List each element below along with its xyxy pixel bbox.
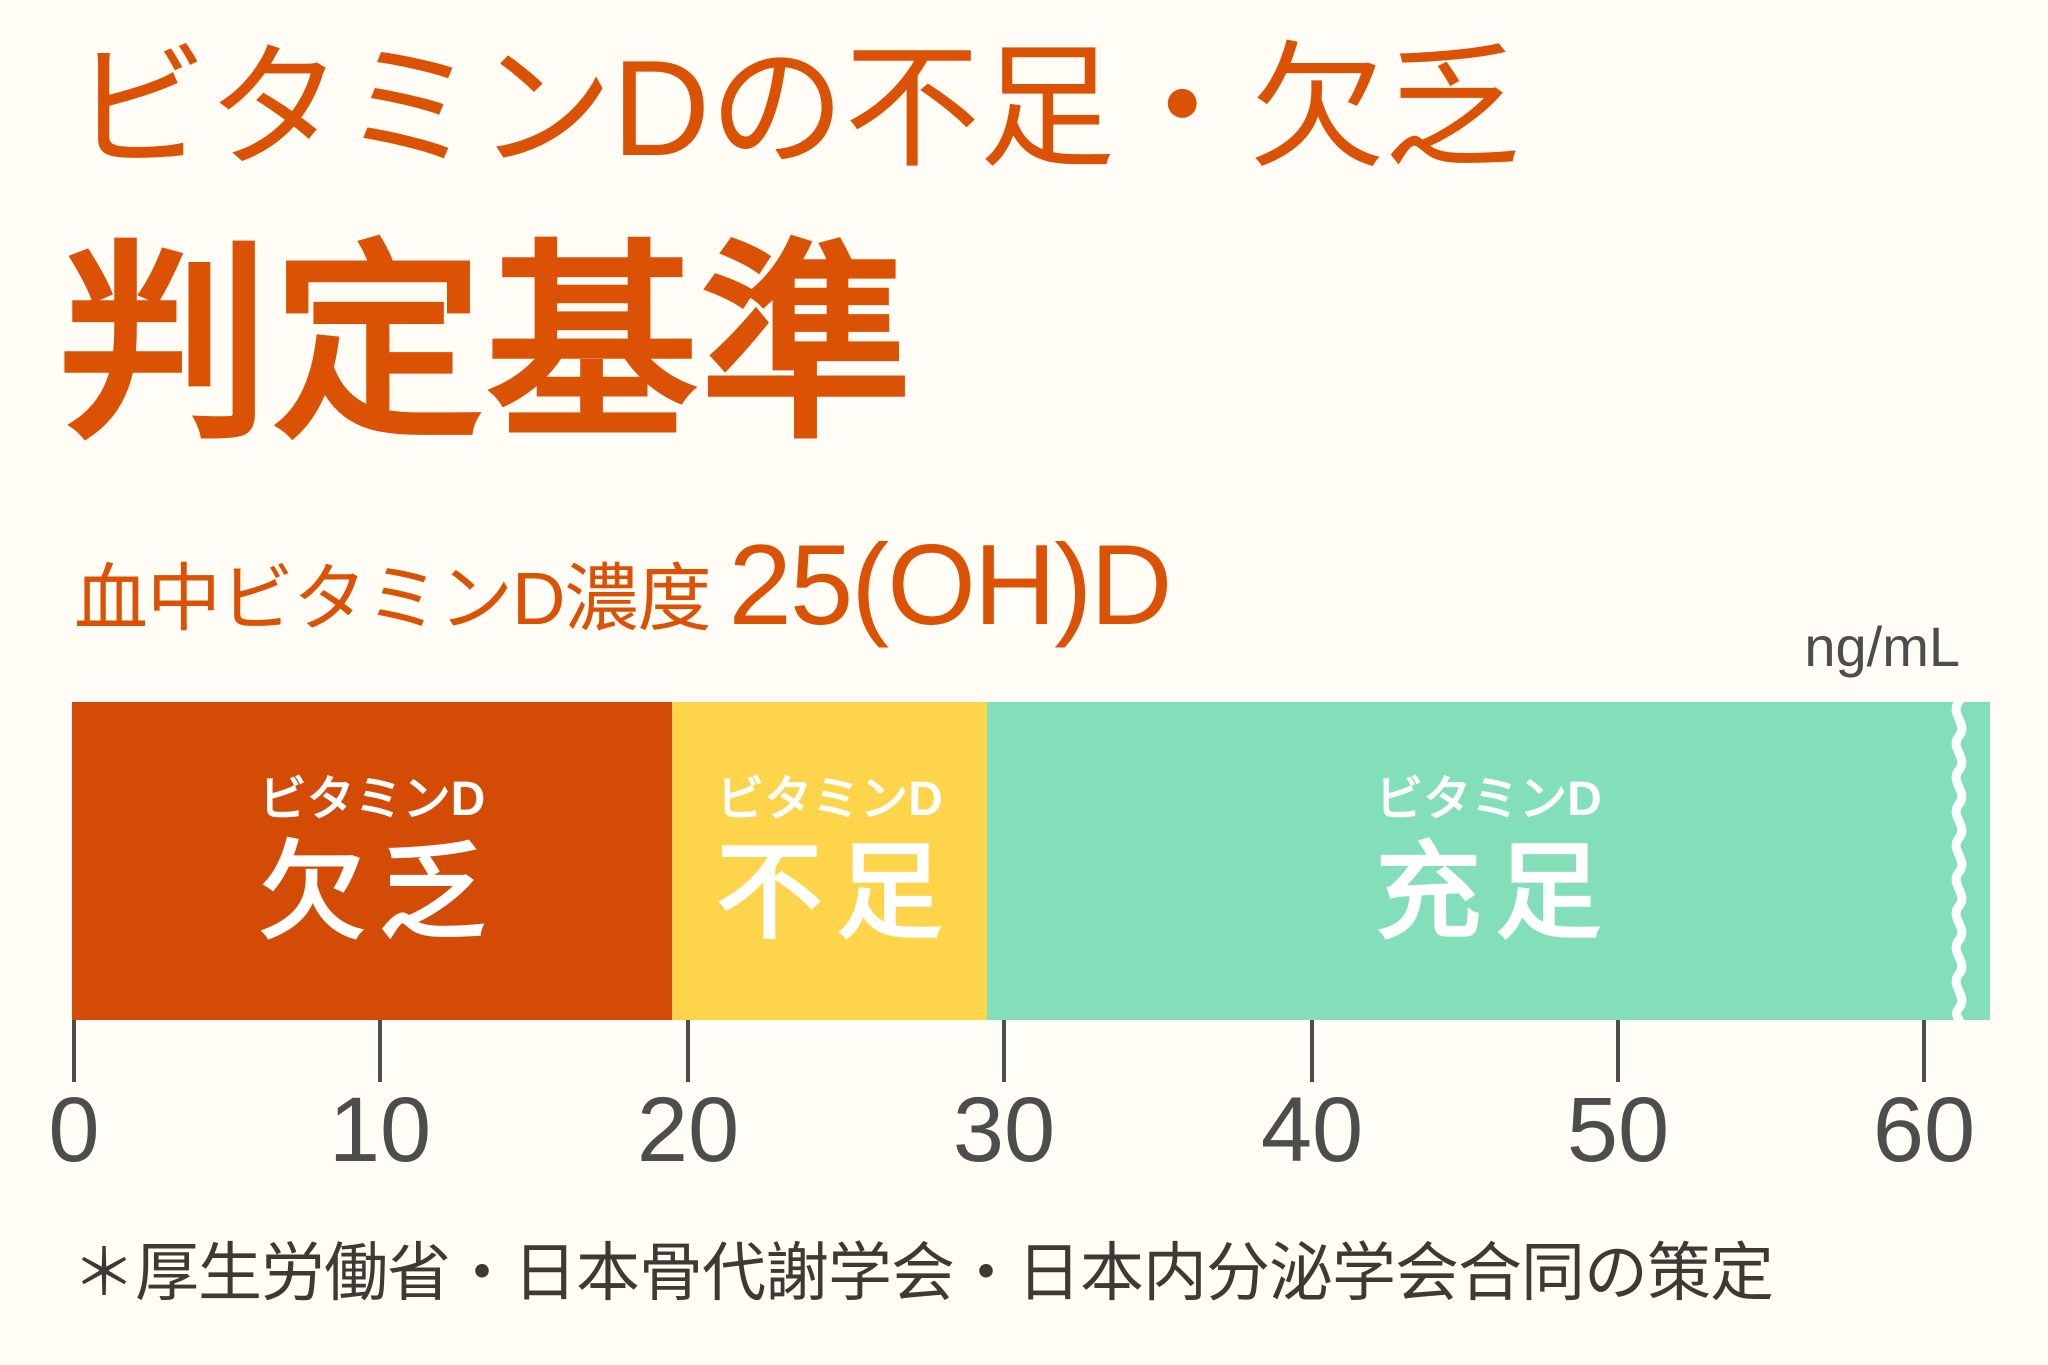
page-title-line-1: ビタミンDの不足・欠乏 <box>72 28 1519 188</box>
axis-tick-label-20: 20 <box>637 1078 739 1183</box>
axis-tick-40 <box>1310 1020 1314 1082</box>
bar-segment-sufficient-label: 充足 <box>1361 840 1615 946</box>
subtitle-marker: 25(OH)D <box>728 520 1170 651</box>
infographic-root: ビタミンDの不足・欠乏 判定基準 血中ビタミンD濃度 25(OH)D ng/mL… <box>0 0 2048 1365</box>
axis-tick-10 <box>378 1020 382 1082</box>
axis-tick-20 <box>686 1020 690 1082</box>
bar-segment-deficient: ビタミンD 欠乏 <box>72 702 672 1020</box>
page-title-line-2: 判定基準 <box>58 224 914 466</box>
axis-tick-label-60: 60 <box>1873 1078 1975 1183</box>
axis-tick-label-10: 10 <box>329 1078 431 1183</box>
bar-segment-sufficient-caption: ビタミンD <box>1375 776 1602 824</box>
subtitle-label: 血中ビタミンD濃度 <box>74 539 710 646</box>
range-bar: ビタミンD 欠乏 ビタミンD 不足 ビタミンD 充足 <box>72 702 1990 1020</box>
x-axis: 0 10 20 30 40 50 60 <box>0 1020 2048 1180</box>
bar-segment-deficient-label: 欠乏 <box>245 840 499 946</box>
bar-segment-insufficient-caption: ビタミンD <box>716 776 943 824</box>
axis-tick-60 <box>1922 1020 1926 1082</box>
axis-tick-30 <box>1002 1020 1006 1082</box>
axis-tick-50 <box>1616 1020 1620 1082</box>
axis-tick-label-30: 30 <box>953 1078 1055 1183</box>
bar-segment-insufficient: ビタミンD 不足 <box>672 702 987 1020</box>
axis-tick-label-0: 0 <box>48 1078 99 1183</box>
axis-unit-label: ng/mL <box>1804 614 1960 679</box>
axis-break-wave-icon <box>1944 702 1974 1020</box>
footnote: ＊厚生労働省・日本骨代謝学会・日本内分泌学会合同の策定 <box>72 1222 1773 1314</box>
bar-segment-sufficient: ビタミンD 充足 <box>987 702 1990 1020</box>
axis-tick-0 <box>72 1020 76 1082</box>
bar-segment-insufficient-label: 不足 <box>702 840 956 946</box>
axis-tick-label-40: 40 <box>1261 1078 1363 1183</box>
bar-segment-deficient-caption: ビタミンD <box>259 776 486 824</box>
subtitle: 血中ビタミンD濃度 25(OH)D <box>74 520 1171 651</box>
axis-tick-label-50: 50 <box>1567 1078 1669 1183</box>
